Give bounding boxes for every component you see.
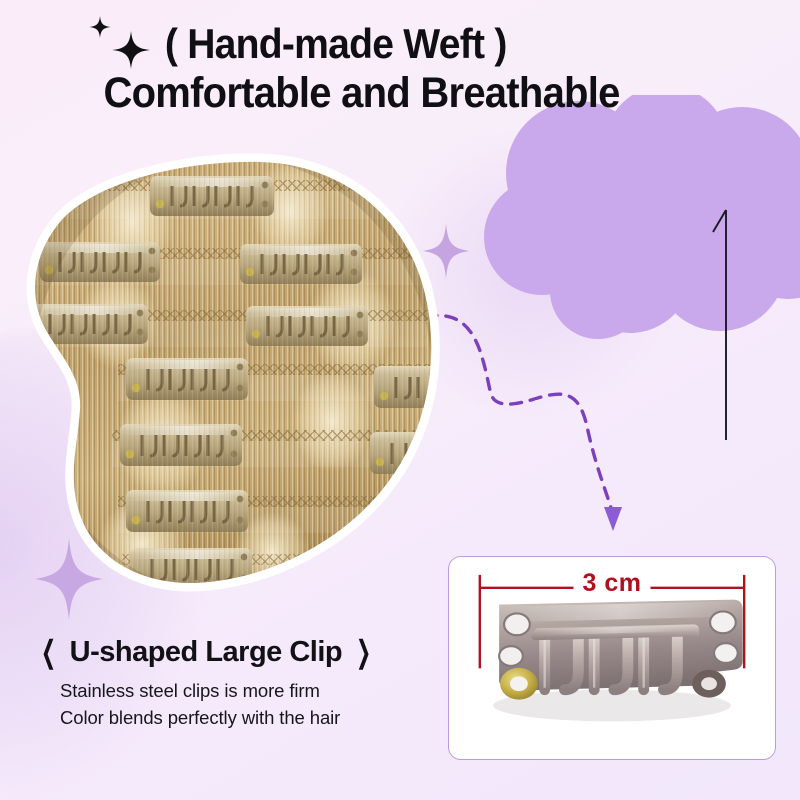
headline-line-2: Comfortable and Breathable xyxy=(96,71,691,115)
chevron-left-icon: ❬ xyxy=(39,638,57,668)
headline-line-1: ( Hand-made Weft ) xyxy=(96,22,691,65)
feature-subtitle-line-1: Stainless steel clips is more firm xyxy=(60,678,436,705)
clip-measurement-card: 3 cm xyxy=(448,556,776,760)
headline-block: ( Hand-made Weft ) Comfortable and Breat… xyxy=(96,22,736,116)
feature-subtitle: Stainless steel clips is more firm Color… xyxy=(36,678,436,731)
feature-title: ❬ U-shaped Large Clip ❭ xyxy=(36,636,436,669)
feature-subtitle-line-2: Color blends perfectly with the hair xyxy=(60,705,436,732)
chevron-right-icon: ❭ xyxy=(354,638,372,668)
infographic-canvas: ( Hand-made Weft ) Comfortable and Breat… xyxy=(0,0,800,800)
main-product-photo xyxy=(22,152,442,602)
thin-vertical-arrow-up xyxy=(705,200,750,450)
feature-text-block: ❬ U-shaped Large Clip ❭ Stainless steel … xyxy=(36,636,436,731)
dimension-label: 3 cm xyxy=(574,569,651,598)
dashed-curve-arrow-down xyxy=(420,295,640,545)
feature-title-label: U-shaped Large Clip xyxy=(70,636,343,669)
